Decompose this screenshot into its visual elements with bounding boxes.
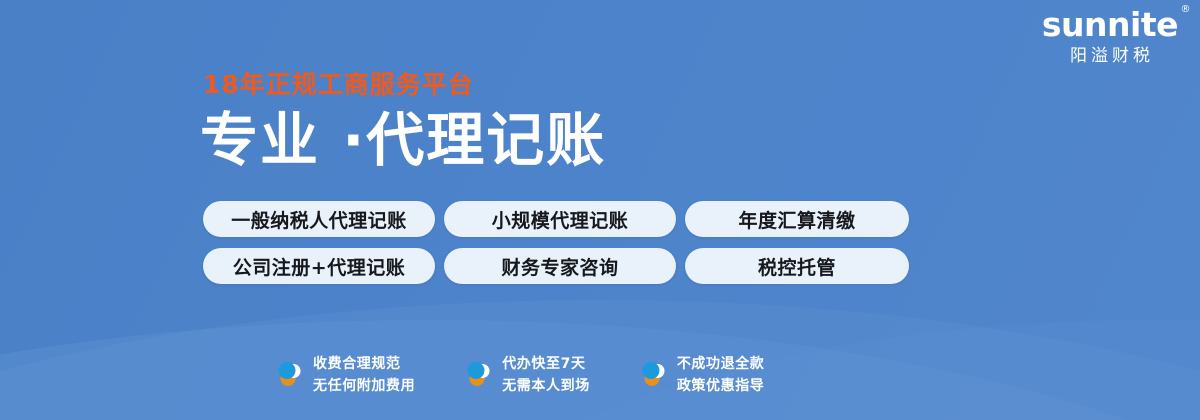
feature-line-1: 不成功退全款 — [677, 356, 765, 372]
logo-wordmark-text: sunnite — [1042, 5, 1178, 44]
service-pill-general-taxpayer[interactable]: 一般纳税人代理记账 — [203, 201, 435, 237]
logo-wordmark: sunnite ® — [1042, 8, 1178, 41]
overlapping-circles-icon — [465, 359, 493, 389]
feature-line-1: 收费合理规范 — [313, 356, 401, 372]
feature-line-2: 无任何附加费用 — [313, 378, 415, 394]
feature-item-pricing: 收费合理规范 无任何附加费用 — [276, 352, 415, 397]
overlapping-circles-glyph — [276, 359, 304, 389]
promo-banner: sunnite ® 阳溢财税 18年正规工商服务平台 专业 ·代理记账 一般纳税… — [0, 0, 1200, 420]
page-title: 专业 ·代理记账 — [200, 111, 606, 169]
feature-text: 收费合理规范 无任何附加费用 — [313, 352, 415, 397]
service-pill-annual-settlement[interactable]: 年度汇算清缴 — [685, 201, 909, 237]
feature-text: 不成功退全款 政策优惠指导 — [677, 352, 765, 397]
feature-item-guarantee: 不成功退全款 政策优惠指导 — [640, 352, 765, 397]
eyebrow-text: 18年正规工商服务平台 — [203, 72, 606, 97]
brand-logo[interactable]: sunnite ® 阳溢财税 — [1042, 8, 1178, 65]
overlapping-circles-glyph — [465, 359, 493, 389]
overlapping-circles-icon — [276, 359, 304, 389]
feature-line-2: 无需本人到场 — [502, 378, 590, 394]
service-pill-tax-control-hosting[interactable]: 税控托管 — [685, 248, 909, 284]
service-pill-grid: 一般纳税人代理记账 小规模代理记账 年度汇算清缴 公司注册+代理记账 财务专家咨… — [203, 201, 909, 284]
registered-trademark-icon: ® — [1181, 5, 1191, 15]
overlapping-circles-icon — [640, 359, 668, 389]
overlapping-circles-glyph — [640, 359, 668, 389]
headline-group: 18年正规工商服务平台 专业 ·代理记账 — [200, 72, 606, 169]
feature-item-speed: 代办快至7天 无需本人到场 — [465, 352, 590, 397]
service-pill-small-scale[interactable]: 小规模代理记账 — [444, 201, 676, 237]
feature-line-2: 政策优惠指导 — [677, 378, 765, 394]
feature-line-1: 代办快至7天 — [502, 356, 585, 372]
logo-chinese-name: 阳溢财税 — [1042, 48, 1178, 65]
service-pill-expert-consulting[interactable]: 财务专家咨询 — [444, 248, 676, 284]
feature-text: 代办快至7天 无需本人到场 — [502, 352, 590, 397]
service-pill-company-registration[interactable]: 公司注册+代理记账 — [203, 248, 435, 284]
feature-strip: 收费合理规范 无任何附加费用 代办快至7天 无需本人到场 — [276, 352, 764, 397]
